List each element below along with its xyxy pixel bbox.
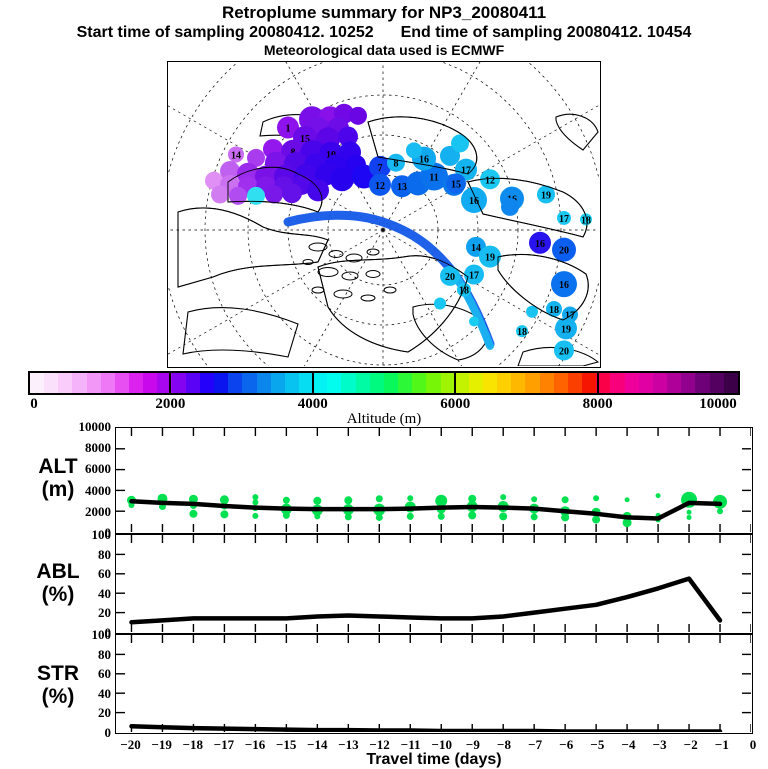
abl-label-line2: (%)	[6, 583, 110, 606]
y-tick-label: 20	[98, 705, 111, 721]
colorbar-swatch-25	[384, 373, 398, 393]
colorbar-swatch-33	[497, 373, 511, 393]
colorbar-swatch-15	[242, 373, 256, 393]
colorbar-swatch-35	[525, 373, 539, 393]
map-marker-label: 16	[535, 239, 545, 250]
alt-scatter-point	[717, 508, 723, 514]
trend-line	[132, 579, 721, 623]
map-marker-label: 18	[459, 286, 469, 297]
y-tick-label: 60	[98, 666, 111, 682]
map-marker-label: 13	[397, 182, 407, 193]
colorbar-swatch-17	[271, 373, 285, 393]
alt-scatter-point	[252, 513, 258, 519]
map-marker	[501, 198, 519, 216]
trend-line	[132, 726, 721, 731]
sampling-time-line: Start time of sampling 20080412. 10252 E…	[0, 23, 768, 42]
alt-scatter-point	[344, 496, 352, 504]
str-label-line2: (%)	[6, 685, 110, 708]
colorbar-swatch-8	[143, 373, 157, 393]
colorbar-swatch-10	[172, 373, 186, 393]
colorbar-swatch-48	[710, 373, 724, 393]
map-marker	[211, 185, 229, 203]
colorbar-swatch-22	[341, 373, 355, 393]
alt-scatter-point	[407, 495, 413, 501]
colorbar-swatch-45	[667, 373, 681, 393]
alt-scatter-point	[313, 497, 321, 505]
alt-scatter-point	[220, 510, 228, 518]
map-marker	[406, 142, 422, 158]
y-tick-label: 20	[98, 605, 111, 621]
colorbar-swatch-31	[469, 373, 483, 393]
map-marker-label: 1	[286, 124, 291, 135]
map-marker	[434, 298, 446, 310]
y-tick-label: 80	[98, 547, 111, 563]
alt-scatter-point	[562, 496, 569, 503]
colorbar-axis-label: Altitude (m)	[0, 411, 768, 428]
alt-plot-canvas	[116, 428, 751, 532]
colorbar-swatch-14	[228, 373, 242, 393]
colorbar-swatch-18	[285, 373, 299, 393]
alt-scatter-point	[252, 499, 258, 505]
y-tick-label: 80	[98, 647, 111, 663]
map-marker-label: 20	[559, 246, 569, 257]
map-marker	[330, 167, 354, 191]
met-data-label: Meteorological data used is ECMWF	[0, 42, 768, 59]
colorbar-swatch-12	[200, 373, 214, 393]
colorbar-swatch-49	[724, 373, 738, 393]
map-marker	[307, 179, 329, 201]
alt-scatter-point	[376, 495, 383, 502]
map-marker-label: 19	[541, 190, 551, 201]
y-tick-label: 8000	[85, 440, 111, 456]
map-marker-label: 15	[451, 179, 461, 190]
map-marker-label: 19	[561, 324, 571, 335]
retroplume-map[interactable]: 1158101478121311161715121616191718141916…	[167, 61, 601, 368]
title-block: Retroplume summary for NP3_20080411 Star…	[0, 0, 768, 59]
colorbar-swatch-43	[639, 373, 653, 393]
alt-scatter-point	[283, 497, 290, 504]
altitude-colorbar[interactable]	[28, 371, 740, 395]
alt-scatter-point	[252, 494, 258, 500]
abl-label-line1: ABL	[6, 560, 110, 583]
colorbar-swatch-36	[540, 373, 554, 393]
map-marker	[282, 183, 302, 203]
alt-scatter-point	[500, 494, 506, 500]
alt-scatter-point	[593, 495, 599, 501]
colorbar-swatch-7	[129, 373, 143, 393]
str-panel[interactable]	[115, 634, 753, 734]
alt-scatter-point	[499, 512, 507, 520]
map-canvas: 1158101478121311161715121616191718141916…	[168, 62, 599, 366]
colorbar-swatch-39	[582, 373, 596, 393]
map-marker-label: 20	[445, 272, 455, 283]
colorbar-swatch-30	[455, 373, 469, 393]
alt-scatter-point	[687, 515, 692, 520]
map-marker	[349, 107, 367, 125]
map-marker	[247, 187, 265, 205]
colorbar-swatch-13	[214, 373, 228, 393]
alt-scatter-point	[531, 513, 538, 520]
str-row-label: STR (%)	[6, 662, 110, 708]
map-marker-label: 18	[517, 327, 527, 338]
alt-scatter-point	[592, 516, 600, 524]
alt-scatter-point	[345, 513, 352, 520]
colorbar-swatch-2	[58, 373, 72, 393]
colorbar-swatch-24	[370, 373, 384, 393]
alt-scatter-point	[687, 510, 692, 515]
map-marker-label: 14	[231, 150, 241, 161]
map-marker-label: 18	[549, 305, 559, 316]
map-marker-label: 20	[559, 346, 569, 357]
colorbar-boundary	[597, 371, 599, 395]
colorbar-swatch-0	[30, 373, 44, 393]
colorbar-swatch-47	[695, 373, 709, 393]
colorbar-swatch-4	[87, 373, 101, 393]
alt-panel[interactable]	[115, 427, 753, 534]
str-label-line1: STR	[6, 662, 110, 685]
str-plot-canvas	[116, 635, 751, 732]
map-marker-label: 16	[559, 280, 569, 291]
colorbar-boundary	[169, 371, 171, 395]
colorbar-swatch-16	[257, 373, 271, 393]
y-tick-label: 2000	[85, 504, 111, 520]
y-tick-label: 60	[98, 566, 111, 582]
colorbar-swatch-38	[568, 373, 582, 393]
map-marker	[469, 316, 479, 326]
y-tick-label: 10000	[79, 419, 112, 435]
colorbar-swatch-32	[483, 373, 497, 393]
map-marker-label: 17	[559, 214, 569, 225]
colorbar-swatch-28	[426, 373, 440, 393]
map-marker-label: 17	[469, 271, 479, 282]
alt-scatter-point	[189, 510, 197, 518]
colorbar-swatch-11	[186, 373, 200, 393]
y-tick-label: 100	[92, 527, 112, 543]
abl-panel[interactable]	[115, 534, 753, 634]
map-marker-label: 19	[485, 253, 495, 264]
abl-plot-canvas	[116, 535, 751, 632]
colorbar-swatch-46	[681, 373, 695, 393]
colorbar-swatch-1	[44, 373, 58, 393]
map-marker-label: 12	[485, 175, 495, 186]
trend-line	[132, 501, 721, 518]
colorbar-swatch-6	[115, 373, 129, 393]
alt-scatter-point	[407, 513, 414, 520]
map-marker-label: 14	[471, 243, 481, 254]
alt-scatter-point	[376, 514, 383, 521]
colorbar-boundary	[454, 371, 456, 395]
colorbar-swatch-23	[356, 373, 370, 393]
colorbar-swatch-20	[313, 373, 327, 393]
y-tick-label: 100	[92, 627, 112, 643]
alt-scatter-point	[468, 511, 476, 519]
y-tick-label: 40	[98, 586, 111, 602]
alt-scatter-point	[561, 513, 569, 521]
page-title: Retroplume summary for NP3_20080411	[0, 3, 768, 23]
map-marker-label: 11	[429, 173, 438, 184]
colorbar-swatch-27	[412, 373, 426, 393]
alt-scatter-point	[283, 512, 290, 519]
map-marker-label: 7	[378, 163, 383, 174]
map-marker	[265, 185, 283, 203]
colorbar-swatch-3	[72, 373, 86, 393]
colorbar-swatch-44	[653, 373, 667, 393]
map-marker-label: 17	[461, 166, 471, 177]
y-tick-label: 6000	[85, 461, 111, 477]
colorbar-swatch-26	[398, 373, 412, 393]
end-time-label: End time of sampling 20080412. 10454	[401, 24, 692, 41]
colorbar-swatch-21	[327, 373, 341, 393]
abl-row-label: ABL (%)	[6, 560, 110, 606]
colorbar-swatch-29	[441, 373, 455, 393]
alt-scatter-point	[531, 496, 537, 502]
alt-scatter-point	[438, 513, 445, 520]
x-axis-title: Travel time (days)	[115, 751, 753, 769]
map-marker-label: 12	[375, 181, 385, 192]
colorbar-swatch-41	[610, 373, 624, 393]
y-tick-label: 40	[98, 686, 111, 702]
map-marker	[451, 134, 469, 152]
colorbar-swatch-42	[625, 373, 639, 393]
colorbar-boundary	[312, 371, 314, 395]
alt-scatter-point	[656, 493, 661, 498]
alt-scatter-point	[625, 497, 630, 502]
colorbar-swatch-37	[554, 373, 568, 393]
alt-scatter-point	[314, 513, 320, 519]
colorbar-swatch-34	[511, 373, 525, 393]
colorbar-swatch-5	[101, 373, 115, 393]
y-tick-label: 4000	[85, 483, 111, 499]
start-time-label: Start time of sampling 20080412. 10252	[77, 24, 374, 41]
